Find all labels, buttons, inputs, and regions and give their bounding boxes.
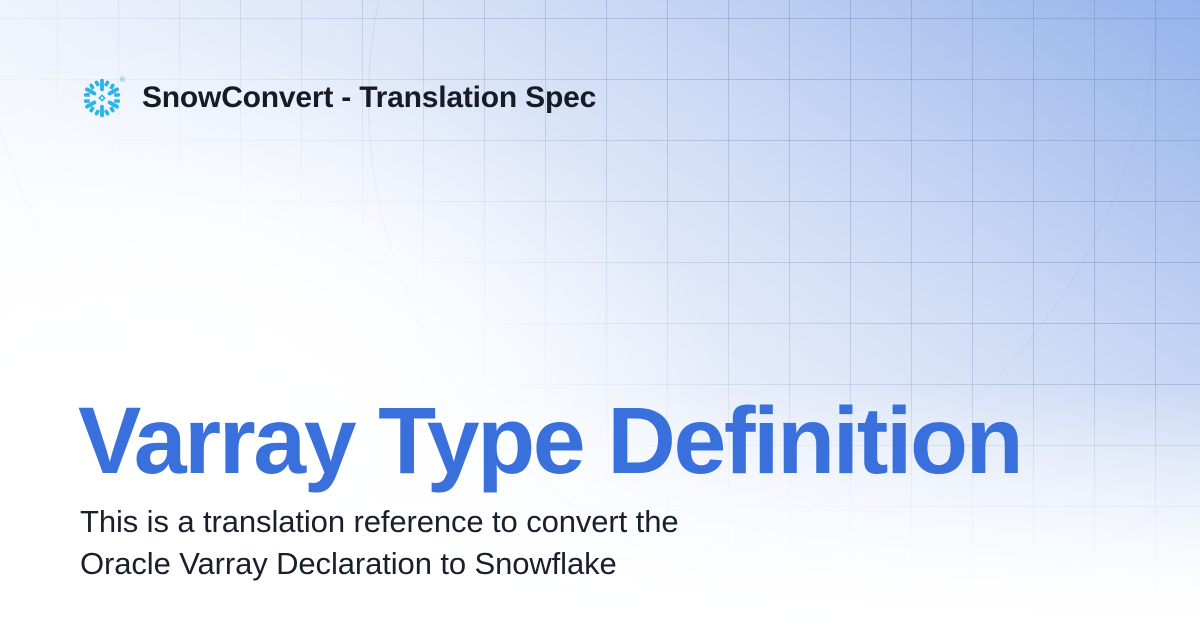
page-subtitle-line-1: This is a translation reference to conve… — [80, 501, 840, 543]
brand-title: SnowConvert - Translation Spec — [142, 81, 596, 115]
snowflake-icon: ® — [80, 76, 124, 120]
brand-lockup: ® SnowConvert - Translation Spec — [80, 76, 596, 120]
registered-trademark-mark: ® — [120, 77, 125, 84]
page-subtitle-line-2: Oracle Varray Declaration to Snowflake — [80, 543, 840, 585]
page-title: Varray Type Definition — [78, 394, 1021, 489]
banner-canvas: ® SnowConvert - Translation Spec Varray … — [0, 0, 1200, 630]
page-subtitle: This is a translation reference to conve… — [80, 501, 840, 585]
banner-content: ® SnowConvert - Translation Spec Varray … — [0, 0, 1200, 630]
